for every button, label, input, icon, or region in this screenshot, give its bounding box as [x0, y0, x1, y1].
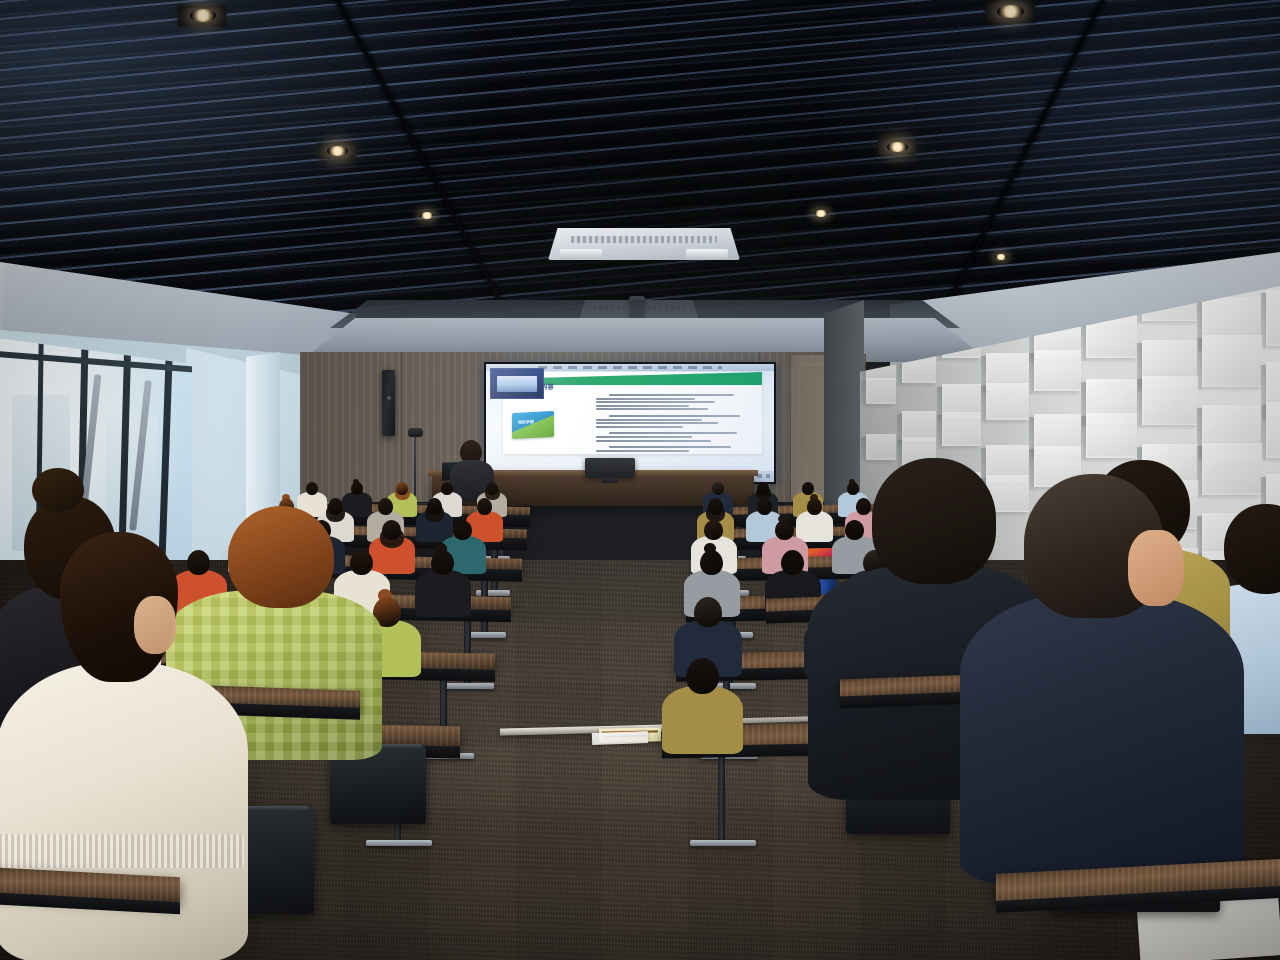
- attendee-head: [328, 498, 343, 515]
- attendee-head: [686, 658, 719, 694]
- hair-bun: [32, 468, 84, 512]
- audience-and-furniture: [0, 0, 1280, 960]
- seminar-room-photo: 培训的主要内容 培训手册: [0, 0, 1280, 960]
- attendee-face: [134, 596, 176, 654]
- attendee-head: [712, 482, 724, 495]
- attendee-head: [704, 520, 723, 540]
- attendee-head: [856, 498, 871, 515]
- attendee-head: [453, 520, 472, 540]
- attendee-torso: [0, 662, 248, 960]
- attendee-head: [431, 550, 454, 575]
- attendee-head: [807, 498, 822, 515]
- attendee-head: [845, 520, 864, 540]
- desk-leg: [718, 751, 725, 840]
- desk-foot: [690, 840, 756, 846]
- attendee-head: [847, 482, 859, 495]
- attendee-head: [306, 482, 318, 495]
- attendee-head: [477, 498, 492, 515]
- attendee-head: [775, 520, 794, 540]
- attendee-head: [486, 482, 498, 495]
- attendee-hair: [872, 458, 996, 584]
- attendee-torso: [796, 511, 833, 542]
- attendee-torso: [662, 686, 743, 754]
- attendee-head: [350, 550, 373, 575]
- attendee-head: [382, 520, 401, 540]
- attendee-hair: [1224, 504, 1280, 594]
- attendee-head: [441, 482, 453, 495]
- desk-foot: [444, 683, 494, 689]
- paper-sheet: [592, 731, 648, 745]
- attendee-head: [396, 482, 408, 495]
- attendee-torso: [960, 592, 1244, 884]
- desk-foot: [366, 840, 432, 846]
- attendee-hair: [228, 506, 334, 608]
- attendee-head: [351, 482, 363, 495]
- attendee-torso: [415, 570, 471, 617]
- dress-shirring: [0, 834, 244, 868]
- attendee-head: [802, 482, 814, 495]
- attendee-head: [694, 597, 722, 627]
- attendee-head: [708, 498, 723, 515]
- attendee-head: [427, 498, 442, 515]
- attendee-ear-face: [1128, 530, 1184, 606]
- attendee-head: [378, 498, 393, 515]
- attendee-head: [187, 550, 210, 575]
- attendee-head: [757, 498, 772, 515]
- attendee-head: [700, 550, 723, 575]
- attendee-head: [757, 482, 769, 495]
- attendee-head: [781, 550, 804, 575]
